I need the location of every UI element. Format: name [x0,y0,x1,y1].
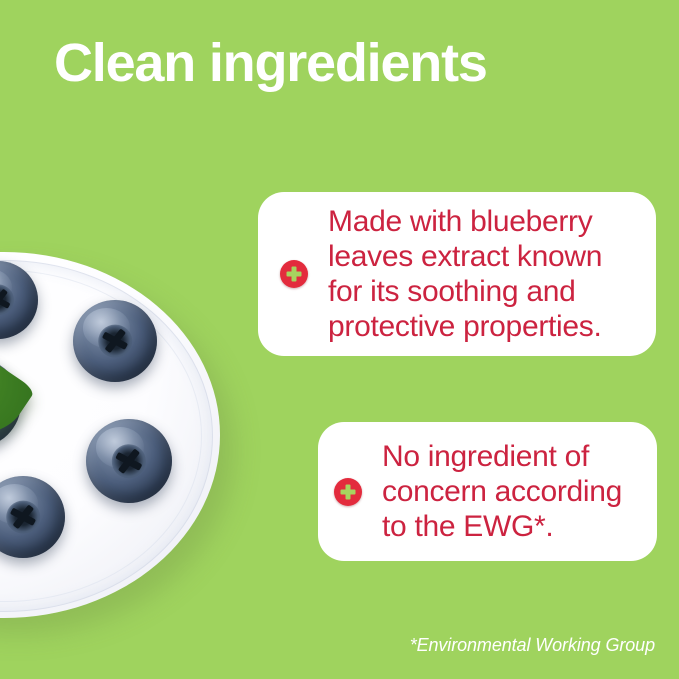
blueberry [73,300,157,382]
clean-ingredients-panel: Clean ingredients [0,0,679,679]
footnote: *Environmental Working Group [410,634,655,656]
plus-in-circle-icon [334,478,362,506]
plus-in-circle-icon [280,260,308,288]
ingredient-claim-text: No ingredient of concern according to th… [382,439,639,544]
blueberries-in-petri-dish-photo [0,252,228,624]
blueberry [86,419,172,503]
ingredient-claim-card-2: No ingredient of concern according to th… [318,422,657,561]
ingredient-claim-text: Made with blueberry leaves extract known… [328,204,638,344]
ingredient-claim-card-1: Made with blueberry leaves extract known… [258,192,656,356]
page-title: Clean ingredients [54,32,487,94]
